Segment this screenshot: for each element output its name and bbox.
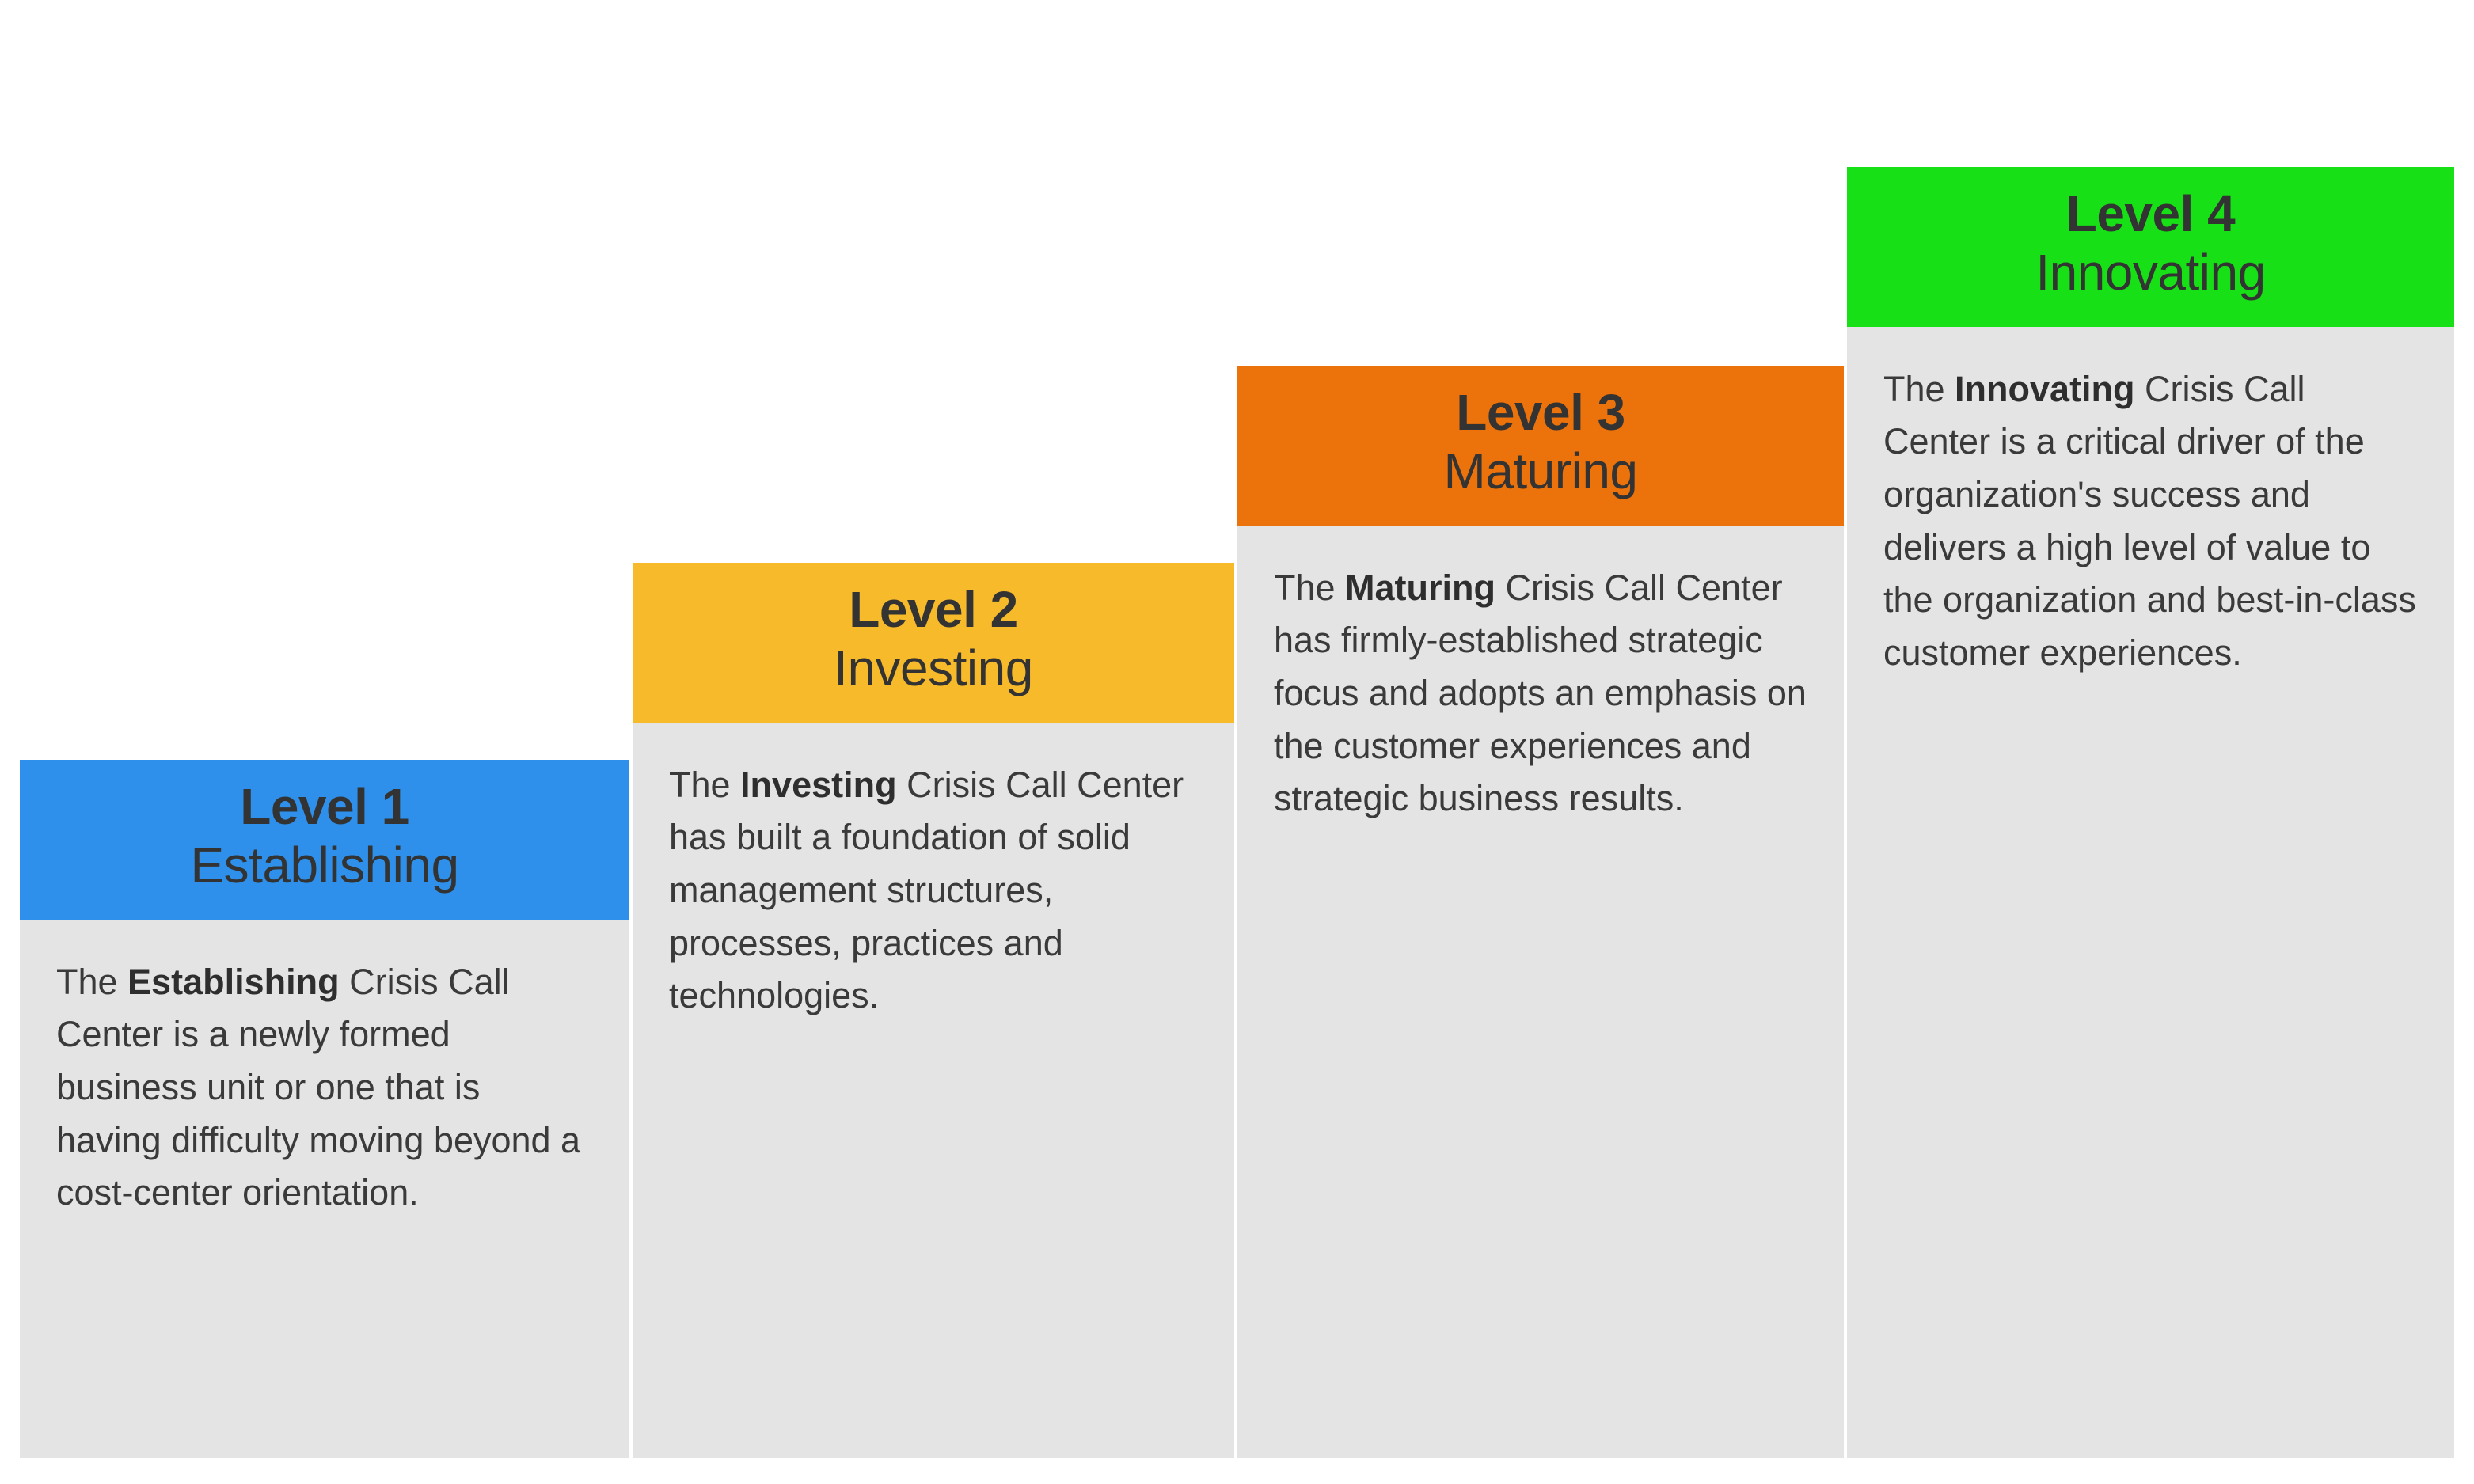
level-1-header: Level 1 Establishing — [20, 760, 629, 920]
level-3-header: Level 3 Maturing — [1237, 366, 1844, 526]
level-4-description: The Innovating Crisis Call Center is a c… — [1847, 327, 2454, 712]
level-4-header: Level 4 Innovating — [1847, 167, 2454, 327]
level-1-desc-lead: The — [56, 962, 127, 1002]
level-2-description: The Investing Crisis Call Center has bui… — [633, 723, 1234, 1054]
level-4-stage-label: Innovating — [1855, 243, 2446, 303]
level-2-stage-label: Investing — [640, 639, 1226, 699]
level-4-desc-emphasis: Innovating — [1955, 369, 2134, 409]
level-3-stage-label: Maturing — [1245, 442, 1836, 502]
level-2-desc-emphasis: Investing — [740, 765, 897, 805]
level-3-desc-emphasis: Maturing — [1345, 567, 1495, 608]
maturity-level-column-2: Level 2 Investing The Investing Crisis C… — [633, 563, 1234, 1458]
level-4-desc-rest: Crisis Call Center is a critical driver … — [1883, 369, 2416, 673]
level-3-description: The Maturing Crisis Call Center has firm… — [1237, 526, 1844, 857]
level-4-desc-lead: The — [1883, 369, 1955, 409]
level-2-level-label: Level 2 — [640, 580, 1226, 639]
maturity-staircase-diagram: Level 1 Establishing The Establishing Cr… — [0, 0, 2474, 1484]
level-4-level-label: Level 4 — [1855, 184, 2446, 243]
maturity-level-column-3: Level 3 Maturing The Maturing Crisis Cal… — [1237, 366, 1844, 1458]
maturity-level-column-4: Level 4 Innovating The Innovating Crisis… — [1847, 167, 2454, 1458]
level-1-desc-emphasis: Establishing — [127, 962, 340, 1002]
level-2-desc-lead: The — [669, 765, 740, 805]
level-1-stage-label: Establishing — [28, 836, 621, 896]
level-1-description: The Establishing Crisis Call Center is a… — [20, 920, 629, 1251]
level-2-header: Level 2 Investing — [633, 563, 1234, 723]
level-3-desc-lead: The — [1274, 567, 1345, 608]
level-3-level-label: Level 3 — [1245, 383, 1836, 442]
level-1-level-label: Level 1 — [28, 777, 621, 836]
maturity-level-column-1: Level 1 Establishing The Establishing Cr… — [20, 760, 629, 1458]
